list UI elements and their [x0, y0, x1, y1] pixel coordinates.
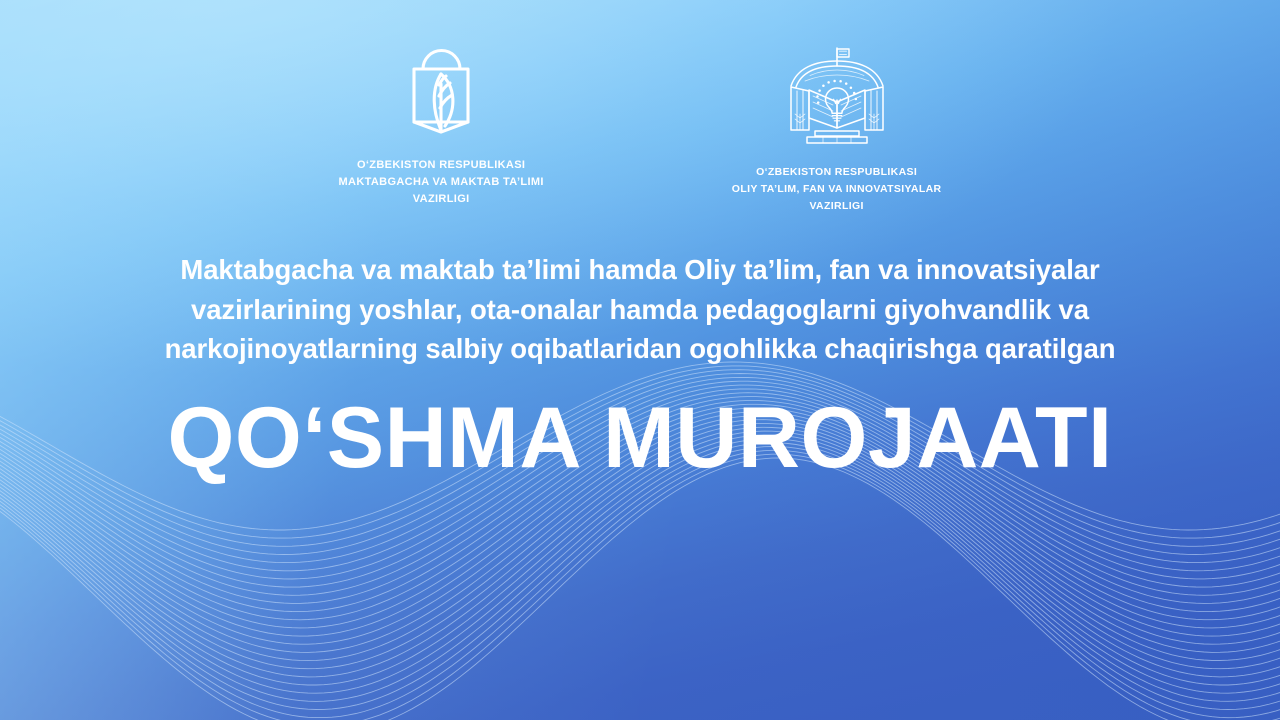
- state-emblem-book-lightbulb-flag-icon: [777, 44, 897, 157]
- presentation-slide: O‘ZBEKISTON RESPUBLIKASI MAKTABGACHA VA …: [0, 0, 1280, 720]
- logo-caption-higher-education: O‘ZBEKISTON RESPUBLIKASI OLIY TA’LIM, FA…: [732, 164, 942, 214]
- ministry-logos-row: O‘ZBEKISTON RESPUBLIKASI MAKTABGACHA VA …: [0, 44, 1280, 214]
- open-book-with-leaf-emblem-icon: [393, 44, 489, 145]
- slide-headline: QO‘SHMA MUROJAATI: [0, 395, 1280, 481]
- slide-content: Maktabgacha va maktab ta’limi hamda Oliy…: [0, 250, 1280, 481]
- logo-caption-preschool-school-education: O‘ZBEKISTON RESPUBLIKASI MAKTABGACHA VA …: [339, 157, 544, 208]
- logo-preschool-school-education-ministry: O‘ZBEKISTON RESPUBLIKASI MAKTABGACHA VA …: [339, 44, 544, 208]
- slide-subheading: Maktabgacha va maktab ta’limi hamda Oliy…: [95, 250, 1185, 369]
- logo-higher-education-ministry: O‘ZBEKISTON RESPUBLIKASI OLIY TA’LIM, FA…: [732, 44, 942, 214]
